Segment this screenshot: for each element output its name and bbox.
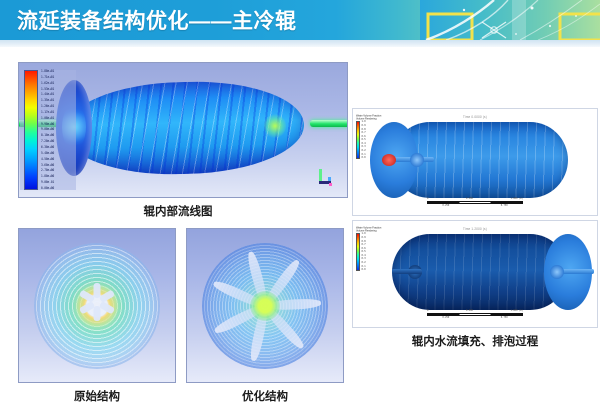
figure-internal-streamlines: 1.80e+01 1.71e+01 1.62e+01 1.53e+01 1.44… (18, 62, 348, 198)
figure-border (352, 220, 598, 328)
header-under-band (0, 40, 600, 47)
caption-vof-process: 辊内水流填充、排泡过程 (352, 333, 598, 349)
figure-border (186, 228, 344, 383)
figure-border (18, 228, 176, 383)
page-title: 流延装备结构优化——主冷辊 (17, 5, 297, 35)
header-decoration-graphic (420, 0, 600, 40)
slide-header-bar: 流延装备结构优化——主冷辊 (0, 0, 600, 40)
figure-vof-fill-start: Time 0.0000 (s) Water Volume Fraction Vo… (352, 108, 598, 216)
caption-internal-streamlines: 辊内部流线图 (98, 203, 258, 219)
figure-border (18, 62, 348, 198)
caption-optimized-structure: 优化结构 (186, 388, 344, 404)
figure-original-structure (18, 228, 176, 383)
figure-border (352, 108, 598, 216)
caption-original-structure: 原始结构 (18, 388, 176, 404)
slide-canvas: 流延装备结构优化——主冷辊 1.80e+01 1.71e+01 1.62e+01… (0, 0, 600, 413)
figure-vof-fill-complete: Time 1.2000 (s) Water Volume Fraction Vo… (352, 220, 598, 328)
figure-optimized-structure (186, 228, 344, 383)
